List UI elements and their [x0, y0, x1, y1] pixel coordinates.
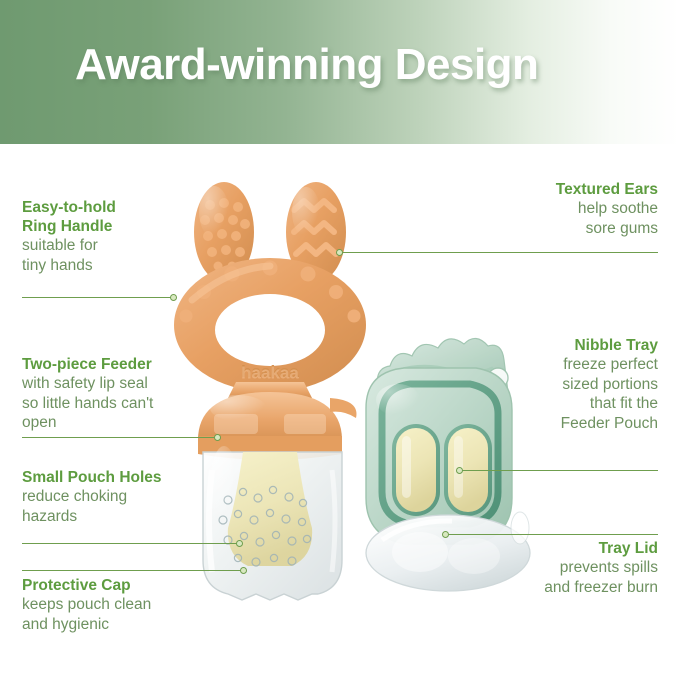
callout-body: keeps pouch clean and hygienic	[22, 595, 212, 634]
connector-two-piece	[22, 437, 218, 438]
teether-ear-left	[194, 182, 254, 282]
connector-textured-ears	[340, 252, 658, 253]
callout-body: suitable for tiny hands	[22, 236, 202, 275]
header-banner: Award-winning Design	[0, 0, 679, 144]
svg-text:haakaa: haakaa	[241, 363, 299, 382]
connector-dot-nibble-tray	[456, 467, 463, 474]
callout-heading: Small Pouch Holes	[22, 468, 212, 487]
callout-textured-ears: Textured Ears help soothe sore gums	[458, 180, 658, 238]
callout-heading: Easy-to-hold Ring Handle	[22, 198, 202, 236]
callout-body: reduce choking hazards	[22, 487, 212, 526]
callout-two-piece-feeder: Two-piece Feeder with safety lip seal so…	[22, 355, 212, 433]
connector-dot-protective-cap	[240, 567, 247, 574]
connector-dot-small-pouch	[236, 540, 243, 547]
page-title: Award-winning Design	[75, 40, 538, 90]
callout-small-pouch-holes: Small Pouch Holes reduce choking hazards	[22, 468, 212, 526]
callout-nibble-tray: Nibble Tray freeze perfect sized portion…	[458, 336, 658, 433]
feeder-collar	[198, 382, 356, 460]
teether-ear-right	[286, 182, 346, 282]
connector-small-pouch	[22, 543, 240, 544]
callout-easy-to-hold-ring-handle: Easy-to-hold Ring Handle suitable for ti…	[22, 198, 202, 275]
infographic-root: Award-winning Design	[0, 0, 679, 679]
connector-dot-easy-to-hold	[170, 294, 177, 301]
callout-heading: Tray Lid	[458, 539, 658, 558]
callout-body: with safety lip seal so little hands can…	[22, 374, 212, 433]
callout-protective-cap: Protective Cap keeps pouch clean and hyg…	[22, 576, 212, 634]
connector-protective-cap	[22, 570, 244, 571]
callout-body: prevents spills and freezer burn	[458, 558, 658, 597]
callout-heading: Protective Cap	[22, 576, 212, 595]
connector-dot-tray-lid	[442, 531, 449, 538]
connector-dot-two-piece	[214, 434, 221, 441]
connector-easy-to-hold	[22, 297, 174, 298]
callout-tray-lid: Tray Lid prevents spills and freezer bur…	[458, 539, 658, 597]
callout-heading: Textured Ears	[458, 180, 658, 199]
brand-mark: haakaa	[241, 362, 299, 381]
callout-heading: Two-piece Feeder	[22, 355, 212, 374]
connector-nibble-tray	[460, 470, 658, 471]
feeder-pouch	[228, 452, 312, 566]
callout-heading: Nibble Tray	[458, 336, 658, 355]
connector-dot-textured-ears	[336, 249, 343, 256]
callout-body: help soothe sore gums	[458, 199, 658, 238]
tray-portion-left	[392, 424, 440, 516]
protective-cap	[203, 446, 342, 600]
connector-tray-lid	[446, 534, 658, 535]
callout-body: freeze perfect sized portions that fit t…	[458, 355, 658, 433]
